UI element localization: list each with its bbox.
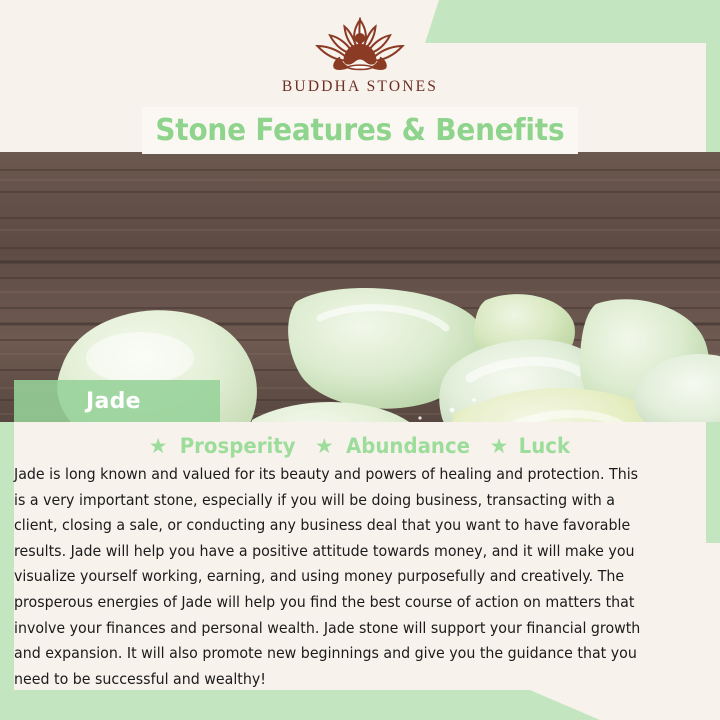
keyword-prosperity: Prosperity [179, 434, 295, 458]
keyword-abundance: Abundance [346, 434, 470, 458]
keyword-row: ★ Prosperity ★ Abundance ★ Luck [14, 430, 706, 462]
infographic-page: BUDDHA STONES Stone Features & Benefits [0, 0, 720, 720]
stone-name-label: Jade [86, 389, 141, 414]
star-icon: ★ [149, 436, 168, 457]
decor-green-bottom-band [0, 690, 600, 720]
keyword-luck: Luck [518, 434, 569, 458]
star-icon: ★ [490, 436, 509, 457]
star-icon: ★ [315, 436, 334, 457]
lotus-meditation-figure-icon [301, 14, 419, 76]
brand-name: BUDDHA STONES [282, 78, 438, 96]
stone-description: Jade is long known and valued for its be… [14, 462, 655, 692]
page-title: Stone Features & Benefits [156, 113, 565, 148]
brand-logo: BUDDHA STONES [0, 14, 720, 106]
title-banner: Stone Features & Benefits [142, 107, 578, 154]
stone-name-bar: Jade [14, 380, 220, 422]
